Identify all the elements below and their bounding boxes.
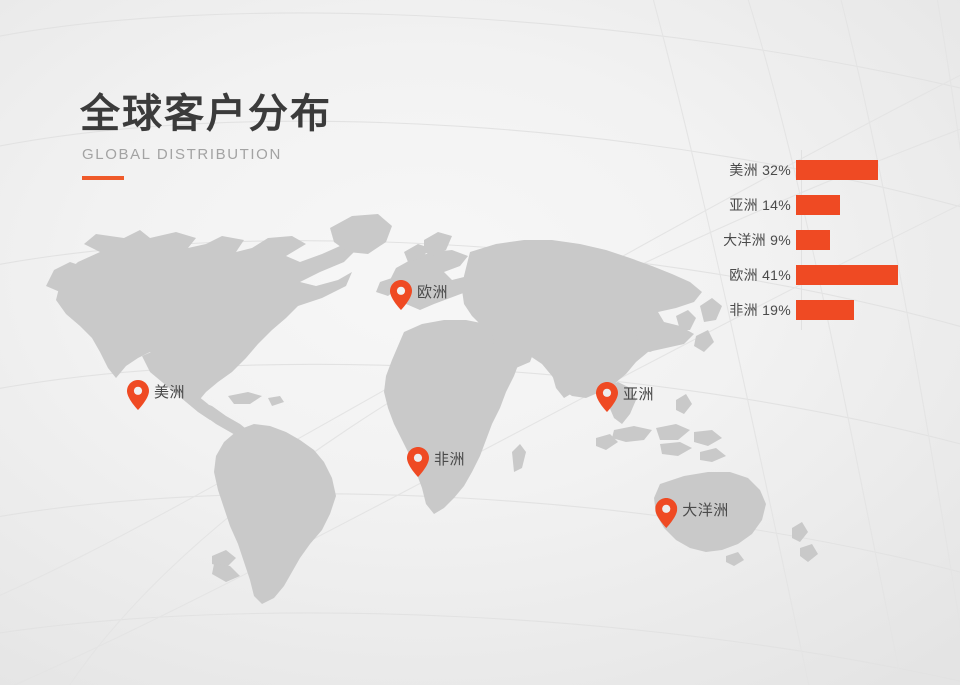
bar-fill — [796, 300, 854, 320]
map-pin-label: 非洲 — [434, 452, 465, 467]
chart-row: 美洲 32% — [700, 159, 945, 181]
map-pin-label: 欧洲 — [417, 285, 448, 300]
world-map — [0, 0, 960, 685]
bar-label: 大洋洲 9% — [700, 229, 796, 251]
map-pin-asia[interactable]: 亚洲 — [596, 382, 654, 412]
bar-fill — [796, 230, 830, 250]
bar-label: 美洲 32% — [700, 159, 796, 181]
map-pin-americas[interactable]: 美洲 — [127, 380, 185, 410]
map-pin-icon — [407, 447, 429, 477]
bar-track — [796, 299, 945, 321]
bar-track — [796, 264, 945, 286]
map-pin-oceania[interactable]: 大洋洲 — [655, 498, 729, 528]
chart-row: 亚洲 14% — [700, 194, 945, 216]
infographic-slide: 全球客户分布 GLOBAL DISTRIBUTION — [0, 0, 960, 685]
map-pin-icon — [596, 382, 618, 412]
distribution-bar-chart: 美洲 32% 亚洲 14% 大洋洲 9% 欧洲 41% 非洲 19% — [700, 150, 945, 330]
map-pin-europe[interactable]: 欧洲 — [390, 280, 448, 310]
chart-row: 欧洲 41% — [700, 264, 945, 286]
bar-track — [796, 159, 945, 181]
bar-label: 亚洲 14% — [700, 194, 796, 216]
map-pin-icon — [127, 380, 149, 410]
bar-fill — [796, 265, 898, 285]
chart-row: 非洲 19% — [700, 299, 945, 321]
bar-fill — [796, 160, 878, 180]
bar-track — [796, 194, 945, 216]
map-pin-label: 亚洲 — [623, 387, 654, 402]
map-pin-icon — [390, 280, 412, 310]
bar-label: 非洲 19% — [700, 299, 796, 321]
map-pin-icon — [655, 498, 677, 528]
map-pin-label: 美洲 — [154, 385, 185, 400]
bar-label: 欧洲 41% — [700, 264, 796, 286]
map-pin-africa[interactable]: 非洲 — [407, 447, 465, 477]
bar-track — [796, 229, 945, 251]
bar-fill — [796, 195, 840, 215]
chart-row: 大洋洲 9% — [700, 229, 945, 251]
map-pin-label: 大洋洲 — [682, 503, 729, 518]
